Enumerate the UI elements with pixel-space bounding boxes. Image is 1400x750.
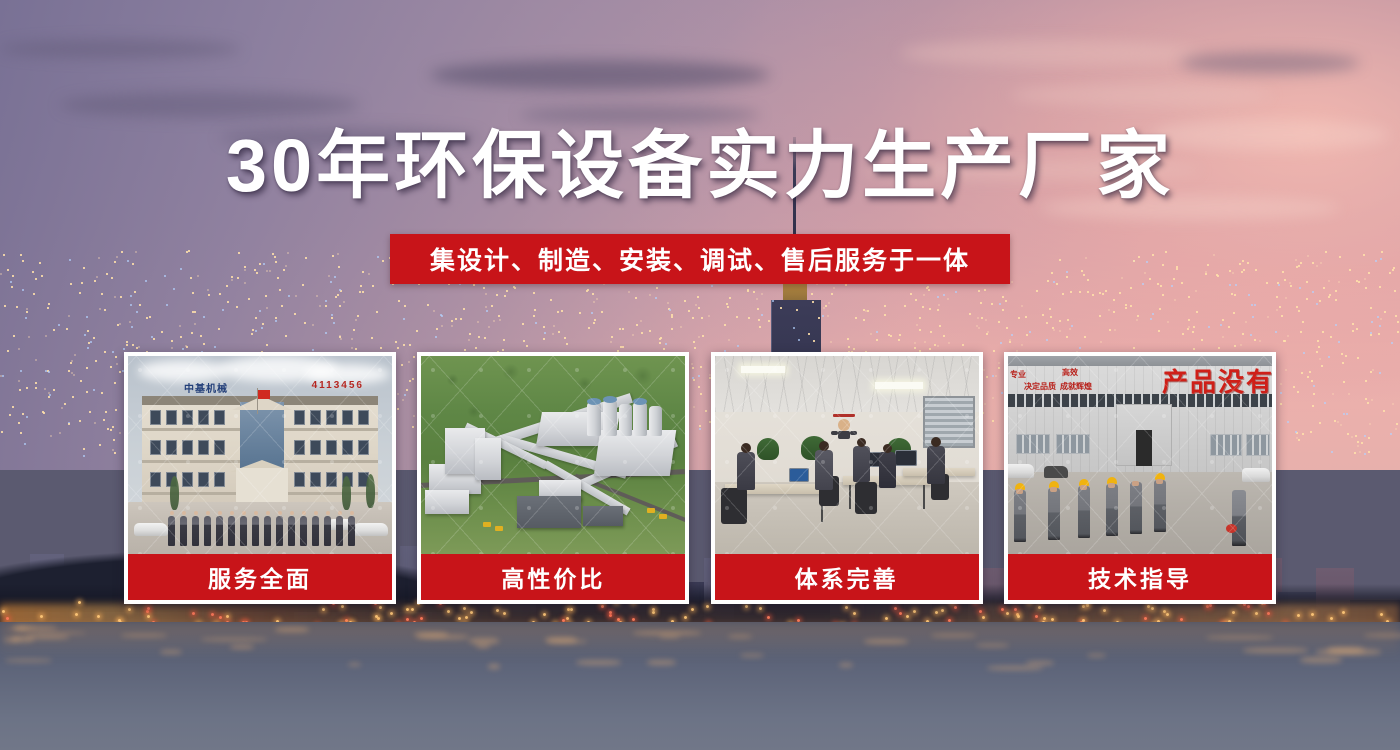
- feature-tile[interactable]: 高性价比: [417, 352, 689, 604]
- water-reflection: [0, 622, 1400, 658]
- tile-caption: 高性价比: [421, 554, 685, 600]
- feature-tile[interactable]: 产品没有 专业 决定品质 高效 成就辉煌: [1004, 352, 1276, 604]
- feature-tiles: 中基机械 4113456 服务全面: [124, 352, 1276, 604]
- factory-sign-small-1: 专业: [1010, 370, 1026, 380]
- tile-caption-label: 服务全面: [208, 560, 312, 594]
- company-headquarters-photo: 中基机械 4113456: [128, 356, 392, 554]
- page-title: 30年环保设备实力生产厂家: [0, 129, 1400, 203]
- building-phone-number: 4113456: [312, 380, 364, 391]
- feature-tile[interactable]: 体系完善: [711, 352, 983, 604]
- tile-caption-label: 高性价比: [501, 560, 605, 594]
- wall-decoration: [827, 412, 861, 442]
- tile-caption: 技术指导: [1008, 554, 1272, 600]
- feature-tile[interactable]: 中基机械 4113456 服务全面: [124, 352, 396, 604]
- factory-sign-small-4: 成就辉煌: [1060, 382, 1092, 392]
- supervisor-figure: [1232, 490, 1246, 546]
- subtitle-banner: 集设计、制造、安装、调试、售后服务于一体: [390, 234, 1010, 284]
- factory-sign-small-2: 决定品质: [1024, 382, 1056, 392]
- tile-caption-label: 体系完善: [795, 560, 899, 594]
- factory-sign-small-3: 高效: [1062, 368, 1078, 378]
- aerial-plant-photo: [421, 356, 685, 554]
- tile-caption-label: 技术指导: [1088, 560, 1192, 594]
- tile-caption: 体系完善: [715, 554, 979, 600]
- building-sign-text: 中基机械: [184, 380, 228, 395]
- workers-training-photo: 产品没有 专业 决定品质 高效 成就辉煌: [1008, 356, 1272, 554]
- tile-caption: 服务全面: [128, 554, 392, 600]
- subtitle-text: 集设计、制造、安装、调试、售后服务于一体: [430, 241, 970, 277]
- office-interior-photo: [715, 356, 979, 554]
- promotional-banner: 30年环保设备实力生产厂家 集设计、制造、安装、调试、售后服务于一体: [0, 0, 1400, 750]
